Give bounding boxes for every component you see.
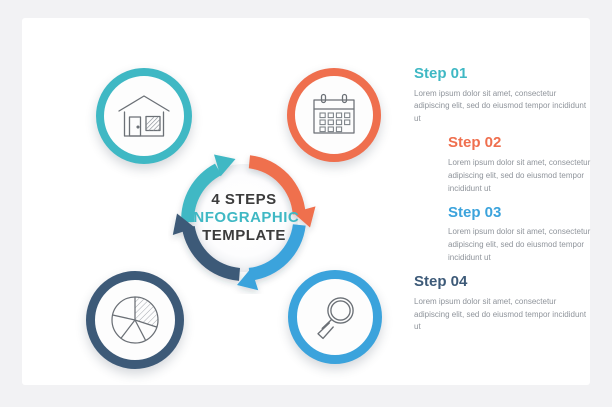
step-title: Step 03 xyxy=(448,205,594,222)
node-circle-house[interactable] xyxy=(96,68,192,164)
step-list: Step 01 Lorem ipsum dolor sit amet, cons… xyxy=(414,66,594,343)
step-title: Step 02 xyxy=(448,135,594,152)
node-circle-calendar[interactable] xyxy=(287,68,381,162)
step-item-03[interactable]: Step 03 Lorem ipsum dolor sit amet, cons… xyxy=(448,205,594,265)
step-item-02[interactable]: Step 02 Lorem ipsum dolor sit amet, cons… xyxy=(448,135,594,195)
house-icon xyxy=(116,92,172,140)
node-circle-pie-chart[interactable] xyxy=(86,271,184,369)
center-cycle-wheel: 4 STEPS INFOGRAPHIC TEMPLATE xyxy=(168,142,320,294)
step-item-04[interactable]: Step 04 Lorem ipsum dolor sit amet, cons… xyxy=(414,274,594,334)
step-body: Lorem ipsum dolor sit amet, consectetur … xyxy=(448,226,594,265)
step-item-01[interactable]: Step 01 Lorem ipsum dolor sit amet, cons… xyxy=(414,66,594,126)
step-body: Lorem ipsum dolor sit amet, consectetur … xyxy=(414,88,594,127)
step-body: Lorem ipsum dolor sit amet, consectetur … xyxy=(448,157,594,196)
step-title: Step 04 xyxy=(414,274,594,291)
calendar-icon xyxy=(309,90,359,140)
magnifier-icon xyxy=(310,292,360,342)
pie-chart-icon xyxy=(109,294,161,346)
step-title: Step 01 xyxy=(414,66,594,83)
node-circle-magnifier[interactable] xyxy=(288,270,382,364)
step-body: Lorem ipsum dolor sit amet, consectetur … xyxy=(414,296,594,335)
infographic-canvas: 4 STEPS INFOGRAPHIC TEMPLATE xyxy=(22,18,590,385)
